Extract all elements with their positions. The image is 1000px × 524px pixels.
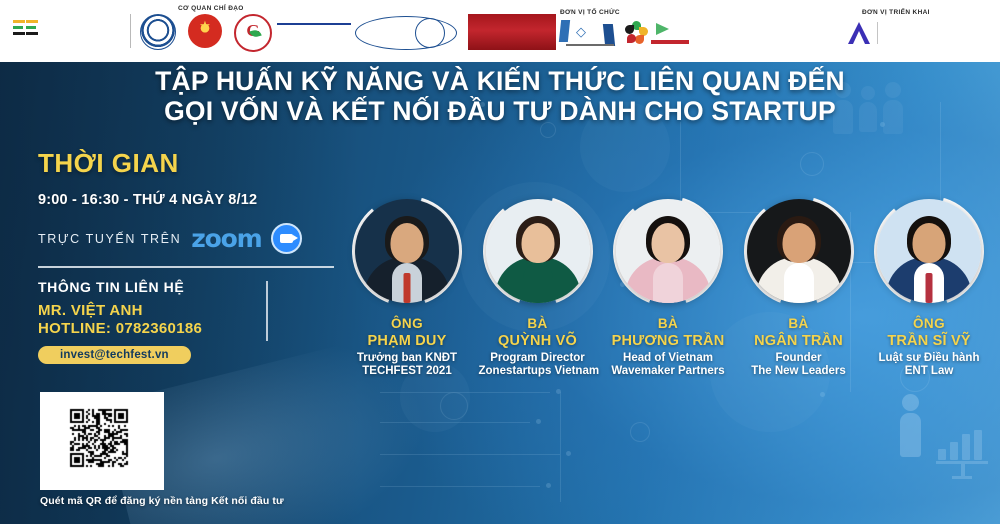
speaker-honorific: BÀ bbox=[609, 316, 727, 331]
bar-chart-icon bbox=[936, 430, 988, 460]
speaker-photo-quynh-vo bbox=[486, 199, 590, 303]
online-platform-row: TRỰC TUYẾN TRÊN zoom bbox=[38, 223, 338, 254]
video-camera-icon bbox=[271, 223, 302, 254]
speaker-photo-ring bbox=[613, 196, 723, 306]
speaker-card: BÀNGÂN TRẦNFounderThe New Leaders bbox=[740, 196, 858, 377]
speaker-photo-phuong-tran bbox=[616, 199, 720, 303]
speaker-photo-tran-si-vy bbox=[877, 199, 981, 303]
qr-section: Quét mã QR để đăng ký nền tảng Kết nối đ… bbox=[40, 392, 284, 507]
info-divider bbox=[38, 266, 334, 268]
vcci-underline bbox=[277, 23, 351, 25]
speakers-row: ÔNGPHẠM DUYTrưởng ban KNĐTTECHFEST 2021B… bbox=[348, 196, 988, 377]
speaker-name: PHƯƠNG TRẦN bbox=[609, 333, 727, 349]
title-line-2: GỌI VỐN VÀ KẾT NỐI ĐẦU TƯ DÀNH CHO START… bbox=[0, 96, 1000, 126]
label-co-quan-chi-dao: CƠ QUAN CHỈ ĐẠO bbox=[178, 5, 244, 12]
speaker-card: ÔNGPHẠM DUYTrưởng ban KNĐTTECHFEST 2021 bbox=[348, 196, 466, 377]
book-rule bbox=[566, 44, 614, 46]
isev-paper-plane-icon bbox=[656, 23, 669, 35]
speaker-role: Luật sư Điều hành bbox=[870, 352, 988, 364]
contact-person-name: MR. VIỆT ANH bbox=[38, 302, 338, 319]
speaker-org: ENT Law bbox=[870, 365, 988, 377]
time-heading: THỜI GIAN bbox=[38, 148, 338, 179]
speaker-photo-ring bbox=[744, 196, 854, 306]
dna-icon: ◇ bbox=[576, 24, 586, 40]
book-left-page-icon bbox=[559, 20, 570, 42]
speaker-org: Zonestartups Vietnam bbox=[479, 365, 597, 377]
techfest-colorbar-e2 bbox=[26, 20, 38, 35]
speaker-org: TECHFEST 2021 bbox=[348, 365, 466, 377]
poster-title: TẬP HUẤN KỸ NĂNG VÀ KIẾN THỨC LIÊN QUAN … bbox=[0, 66, 1000, 126]
contact-hotline: HOTLINE: 0782360186 bbox=[38, 320, 338, 337]
vietnam-government-emblem-icon bbox=[188, 14, 222, 48]
speaker-photo-pham-duy bbox=[355, 199, 459, 303]
svf-pinwheel-icon bbox=[625, 21, 649, 45]
speaker-name: QUỲNH VÕ bbox=[479, 333, 597, 349]
speaker-org: Wavemaker Partners bbox=[609, 365, 727, 377]
speaker-honorific: BÀ bbox=[479, 316, 597, 331]
event-info-panel: THỜI GIAN 9:00 - 16:30 - THỨ 4 NGÀY 8/12… bbox=[38, 148, 338, 364]
speaker-role: Program Director bbox=[479, 352, 597, 364]
techfest-logo bbox=[12, 20, 124, 37]
speaker-card: BÀPHƯƠNG TRẦNHead of VietnamWavemaker Pa… bbox=[609, 196, 727, 377]
speaker-honorific: ÔNG bbox=[348, 316, 466, 331]
svf-red-bar bbox=[651, 40, 689, 44]
ministry-foreign-affairs-plaque bbox=[468, 14, 556, 50]
speaker-card: ÔNGTRẦN SĨ VỸLuật sư Điều hànhENT Law bbox=[870, 196, 988, 377]
contact-email-badge[interactable]: invest@techfest.vn bbox=[38, 346, 191, 364]
techfest-colorbar-e bbox=[13, 20, 25, 35]
book-right-page-icon bbox=[603, 24, 615, 46]
title-line-1: TẬP HUẤN KỸ NĂNG VÀ KIẾN THỨC LIÊN QUAN … bbox=[0, 66, 1000, 96]
speaker-name: NGÂN TRẦN bbox=[740, 333, 858, 349]
vcci-logo bbox=[277, 21, 351, 27]
logo-divider bbox=[130, 14, 131, 48]
speaker-photo-ring bbox=[483, 196, 593, 306]
speaker-photo-ring bbox=[874, 196, 984, 306]
adapter-logo bbox=[848, 22, 885, 44]
most-emblem-icon bbox=[140, 14, 176, 50]
contact-vertical-divider bbox=[266, 281, 268, 341]
speaker-org: The New Leaders bbox=[740, 365, 858, 377]
online-label: TRỰC TUYẾN TRÊN bbox=[38, 232, 181, 246]
speaker-photo-ngan-tran bbox=[747, 199, 851, 303]
speaker-role: Head of Vietnam bbox=[609, 352, 727, 364]
speaker-name: TRẦN SĨ VỸ bbox=[870, 333, 988, 349]
techfest-wordmark bbox=[12, 20, 124, 35]
speaker-honorific: BÀ bbox=[740, 316, 858, 331]
zoom-wordmark: zoom bbox=[191, 226, 261, 251]
contact-heading: THÔNG TIN LIÊN HỆ bbox=[38, 279, 338, 295]
event-datetime: 9:00 - 16:30 - THỨ 4 NGÀY 8/12 bbox=[38, 192, 338, 208]
contact-block: THÔNG TIN LIÊN HỆ MR. VIỆT ANH HOTLINE: … bbox=[38, 279, 338, 364]
qr-code[interactable] bbox=[40, 392, 164, 490]
natec-logo bbox=[355, 19, 455, 45]
speaker-role: Trưởng ban KNĐT bbox=[348, 352, 466, 364]
adapter-chevron-icon bbox=[848, 22, 870, 44]
sponsor-logo-bar: CƠ QUAN CHỈ ĐẠO ĐƠN VỊ TỔ CHỨC ĐƠN VỊ TR… bbox=[0, 0, 1000, 62]
event-poster: CƠ QUAN CHỈ ĐẠO ĐƠN VỊ TỔ CHỨC ĐƠN VỊ TR… bbox=[0, 0, 1000, 524]
speaker-photo-ring bbox=[352, 196, 462, 306]
speaker-card: BÀQUỲNH VÕProgram DirectorZonestartups V… bbox=[479, 196, 597, 377]
most-book-logo: ◇ bbox=[560, 20, 618, 50]
speaker-honorific: ÔNG bbox=[870, 316, 988, 331]
adapter-divider bbox=[877, 22, 878, 44]
qr-caption: Quét mã QR để đăng ký nền tảng Kết nối đ… bbox=[40, 495, 284, 507]
label-don-vi-to-chuc: ĐƠN VỊ TỔ CHỨC bbox=[560, 9, 620, 16]
speaker-role: Founder bbox=[740, 352, 858, 364]
label-don-vi-trien-khai: ĐƠN VỊ TRIỂN KHAI bbox=[862, 9, 930, 16]
speaker-name: PHẠM DUY bbox=[348, 333, 466, 349]
natec-globe-icon bbox=[415, 18, 445, 48]
